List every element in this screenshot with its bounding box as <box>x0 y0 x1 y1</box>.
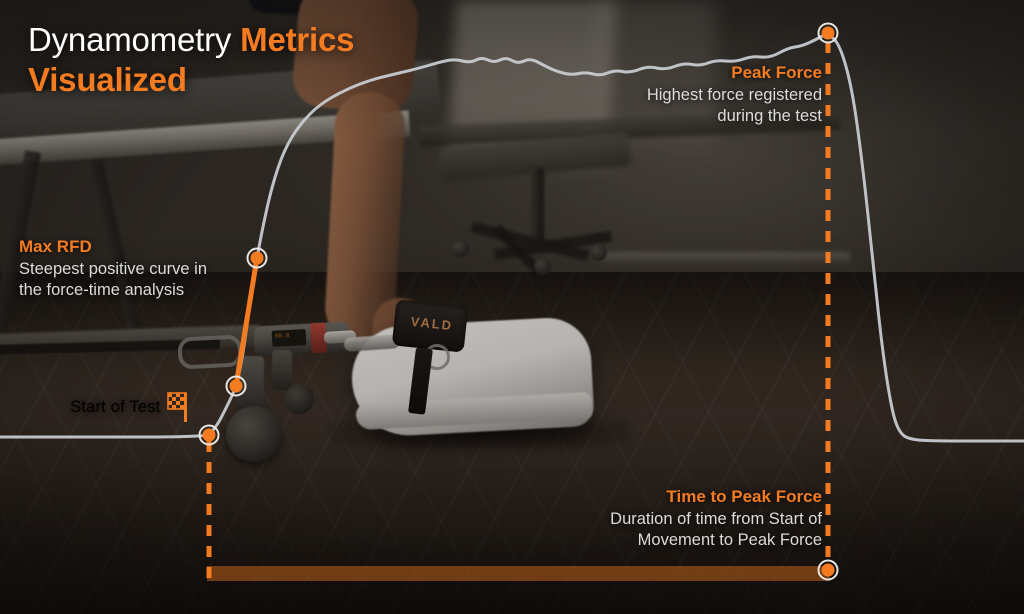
checkered-flag-icon <box>167 391 195 423</box>
callout-start-of-test: Start of Test <box>70 391 195 423</box>
callout-max-rfd: Max RFD Steepest positive curve in the f… <box>19 236 279 301</box>
time-to-peak-force-band <box>207 566 830 581</box>
page-title: Dynamometry Metrics Visualized <box>28 20 354 100</box>
time-to-peak-end-marker <box>822 564 835 577</box>
callout-max-rfd-title: Max RFD <box>19 236 279 258</box>
callout-peak-force-desc-line2: during the test <box>540 106 822 127</box>
infographic-canvas: 88.8 VALD Dynamometry Metrics Visualized… <box>0 0 1024 614</box>
callout-peak-force-title: Peak Force <box>540 62 822 84</box>
callout-time-to-peak-force: Time to Peak Force Duration of time from… <box>540 486 822 551</box>
callout-max-rfd-desc-line1: Steepest positive curve in <box>19 259 279 280</box>
start-of-test-marker <box>203 429 216 442</box>
callout-peak-force-desc-line1: Highest force registered <box>540 85 822 106</box>
callout-time-to-peak-force-title: Time to Peak Force <box>540 486 822 508</box>
title-word-dynamometry: Dynamometry <box>28 21 231 58</box>
callout-time-to-peak-force-desc-line2: Movement to Peak Force <box>540 530 822 551</box>
title-word-metrics: Metrics <box>240 21 354 58</box>
title-word-visualized: Visualized <box>28 61 187 98</box>
max-rfd-lower-marker <box>230 380 243 393</box>
callout-peak-force: Peak Force Highest force registered duri… <box>540 62 822 127</box>
callout-start-of-test-title: Start of Test <box>70 397 160 417</box>
peak-force-marker <box>822 27 835 40</box>
callout-time-to-peak-force-desc-line1: Duration of time from Start of <box>540 509 822 530</box>
callout-max-rfd-desc-line2: the force-time analysis <box>19 280 279 301</box>
